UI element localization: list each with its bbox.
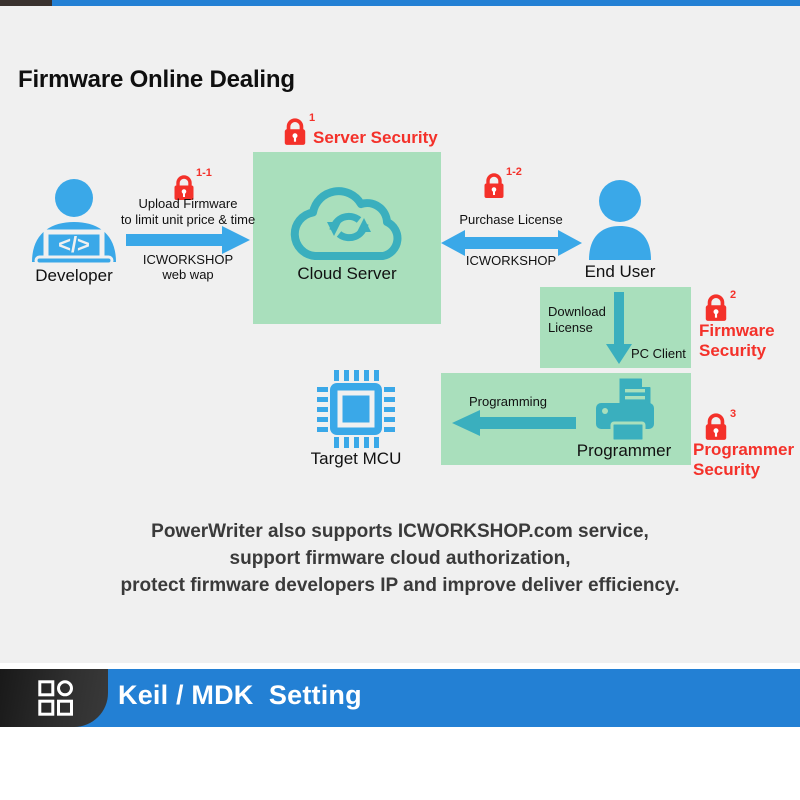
programmer-security-label-line1: Programmer [693, 442, 794, 457]
upload-sublabel-line2: web wap [118, 267, 258, 282]
upload-sublabel-line1: ICWORKSHOP [118, 252, 258, 267]
lock-icon-3 [703, 413, 729, 441]
security-number-2: 2 [730, 289, 736, 301]
arrow-down-download [606, 292, 632, 364]
summary-line-2: support firmware cloud authorization, [0, 545, 800, 572]
lock-icon-1 [282, 118, 308, 146]
programmer-label: Programmer [556, 441, 692, 461]
purchase-label: Purchase License [442, 212, 580, 227]
mcu-chip-icon [317, 370, 395, 448]
end-user-label: End User [545, 262, 695, 282]
target-mcu-label: Target MCU [296, 449, 416, 469]
programmer-printer-icon [592, 377, 658, 443]
page-title: Firmware Online Dealing [18, 66, 295, 94]
lock-icon-2 [703, 294, 729, 322]
download-label-line2: License [548, 320, 593, 335]
lock-icon-1-2 [482, 173, 506, 199]
security-number-3: 3 [730, 408, 736, 420]
security-number-1-1: 1-1 [196, 167, 212, 179]
download-label-line1: Download [548, 304, 606, 319]
upload-label-line1: Upload Firmware [112, 196, 264, 211]
summary-line-1: PowerWriter also supports ICWORKSHOP.com… [0, 518, 800, 545]
programming-label: Programming [469, 394, 547, 409]
firmware-security-label-line1: Firmware [699, 323, 775, 338]
firmware-security-label-line2: Security [699, 343, 766, 358]
slide-root: Firmware Online Dealing </> Developer 1-… [0, 0, 800, 800]
cloud-sync-icon [285, 190, 413, 262]
programmer-security-label-line2: Security [693, 462, 760, 477]
security-number-1-2: 1-2 [506, 166, 522, 178]
arrow-left-programming [452, 410, 576, 436]
user-person-icon [583, 180, 657, 260]
svg-text:</>: </> [58, 232, 90, 257]
cloud-server-label: Cloud Server [253, 264, 441, 284]
footer-title: Keil / MDK Setting [118, 680, 362, 711]
security-number-1: 1 [309, 112, 315, 124]
summary-line-3: protect firmware developers IP and impro… [0, 572, 800, 599]
server-security-label: Server Security [313, 130, 438, 145]
upload-label-line2: to limit unit price & time [102, 212, 274, 227]
arrow-right-upload [126, 226, 250, 254]
grid-apps-icon [38, 680, 74, 716]
pc-client-label: PC Client [631, 346, 686, 361]
